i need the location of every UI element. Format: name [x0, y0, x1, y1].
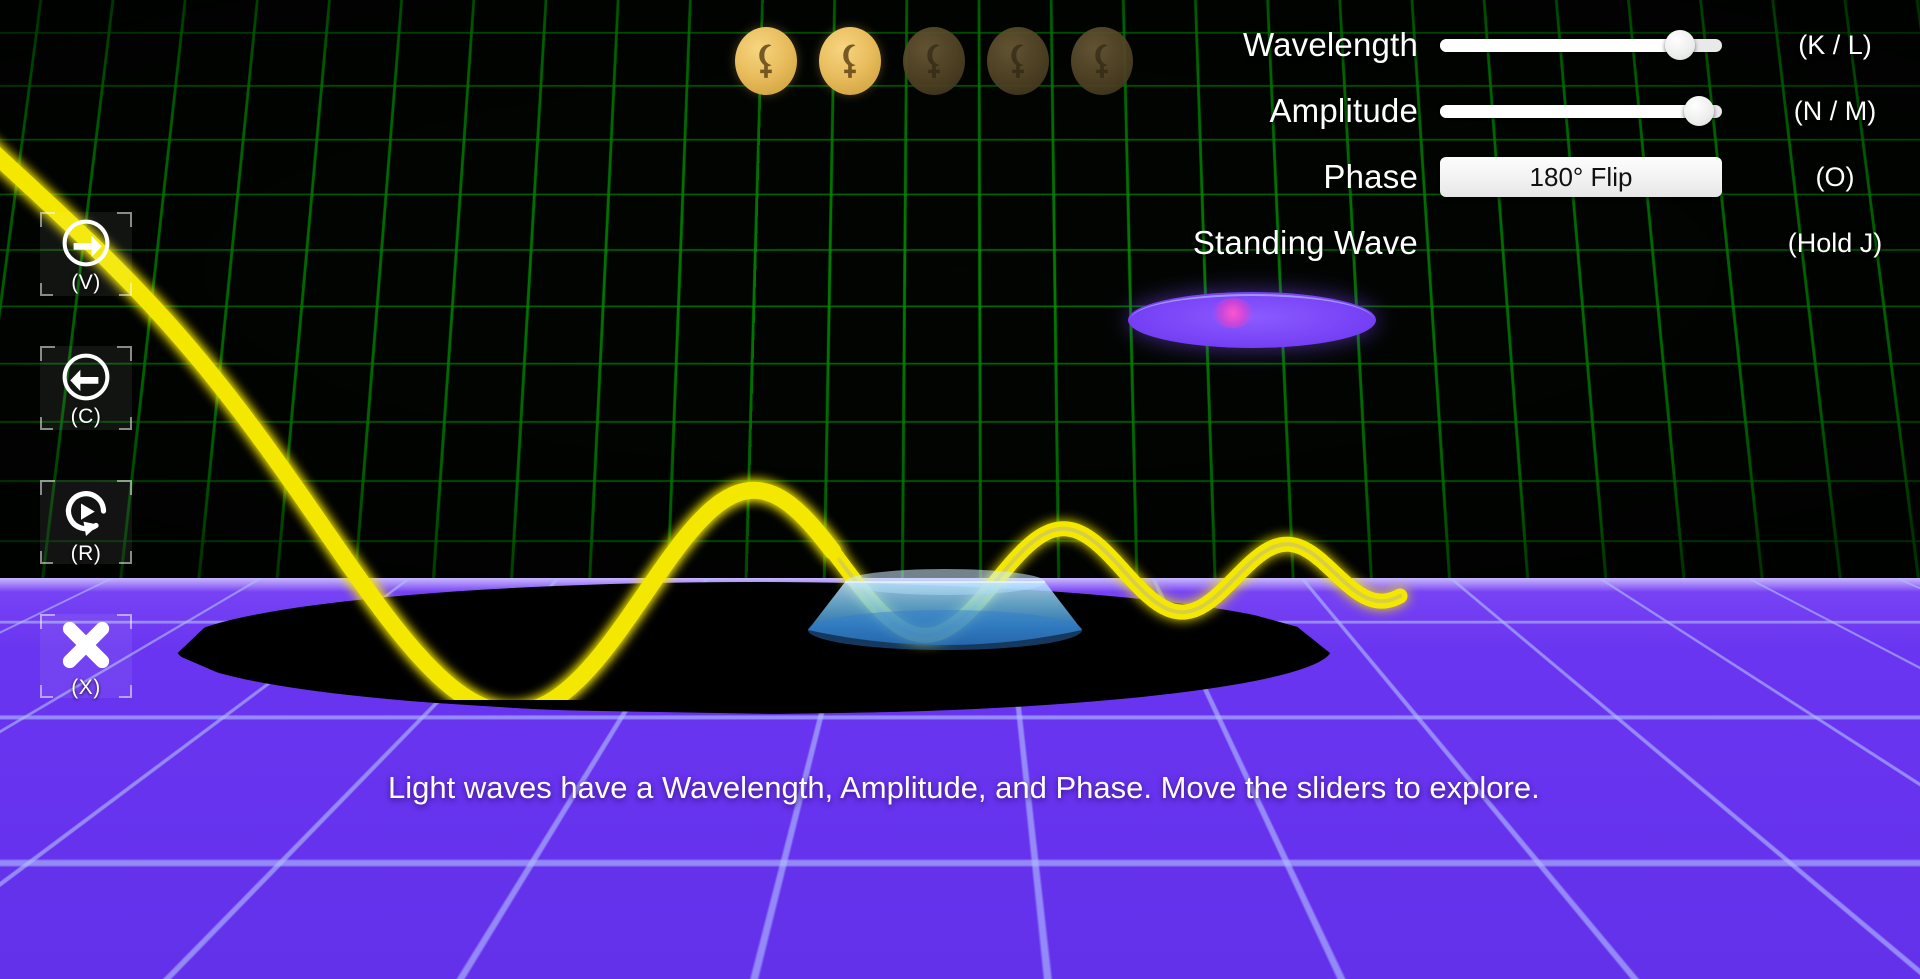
coin-glyph: ⚸: [839, 42, 861, 80]
floating-purple-disc: [1128, 292, 1376, 348]
hud-row-standing-wave: Standing Wave (Hold J): [980, 210, 1920, 276]
step-back-button[interactable]: (C): [40, 346, 132, 430]
wavelength-label: Wavelength: [980, 26, 1440, 64]
left-control-stack: (V) (C) (R) (X): [40, 212, 132, 698]
floor-shadow: [176, 582, 1332, 714]
arrow-left-circle-icon: [59, 350, 113, 404]
replay-button[interactable]: (R): [40, 480, 132, 564]
replay-key: (R): [71, 543, 102, 564]
phase-flip-button[interactable]: 180° Flip: [1440, 157, 1722, 197]
replay-circle-icon: [56, 481, 116, 541]
coin-token-empty: ⚸: [903, 27, 965, 95]
wavelength-slider-knob[interactable]: [1665, 30, 1695, 60]
close-key: (X): [71, 677, 101, 698]
simulation-viewport: ⚸ ⚸ ⚸ ⚸ ⚸: [0, 0, 1920, 979]
step-forward-key: (V): [71, 272, 101, 293]
wavelength-slider-fill: [1440, 39, 1680, 52]
wave-controls-hud: Wavelength (K / L) Amplitude (N / M): [980, 0, 1920, 276]
blue-pedestal: [790, 568, 1100, 658]
step-forward-button[interactable]: (V): [40, 212, 132, 296]
close-button[interactable]: (X): [40, 614, 132, 698]
amplitude-key-hint: (N / M): [1750, 96, 1920, 127]
step-back-key: (C): [71, 406, 102, 427]
disc-rim: [1130, 294, 1374, 346]
phase-label: Phase: [980, 158, 1440, 196]
coin-glyph: ⚸: [755, 42, 777, 80]
hud-row-wavelength: Wavelength (K / L): [980, 12, 1920, 78]
hud-row-phase: Phase 180° Flip (O): [980, 144, 1920, 210]
standing-wave-label: Standing Wave: [980, 224, 1440, 262]
amplitude-label: Amplitude: [980, 92, 1440, 130]
coin-token: ⚸: [819, 27, 881, 95]
caption-text: Light waves have a Wavelength, Amplitude…: [388, 768, 1568, 808]
amplitude-slider-knob[interactable]: [1684, 96, 1714, 126]
wavelength-slider[interactable]: [1440, 32, 1722, 58]
close-x-icon: [56, 615, 116, 675]
amplitude-slider-fill: [1440, 105, 1699, 118]
wavelength-key-hint: (K / L): [1750, 30, 1920, 61]
arrow-right-circle-icon: [59, 216, 113, 270]
amplitude-slider[interactable]: [1440, 98, 1722, 124]
disc-hotspot-icon: [1212, 298, 1254, 328]
coin-glyph: ⚸: [923, 42, 945, 80]
standing-wave-key-hint: (Hold J): [1750, 228, 1920, 259]
hud-row-amplitude: Amplitude (N / M): [980, 78, 1920, 144]
coin-token: ⚸: [735, 27, 797, 95]
phase-key-hint: (O): [1750, 162, 1920, 193]
